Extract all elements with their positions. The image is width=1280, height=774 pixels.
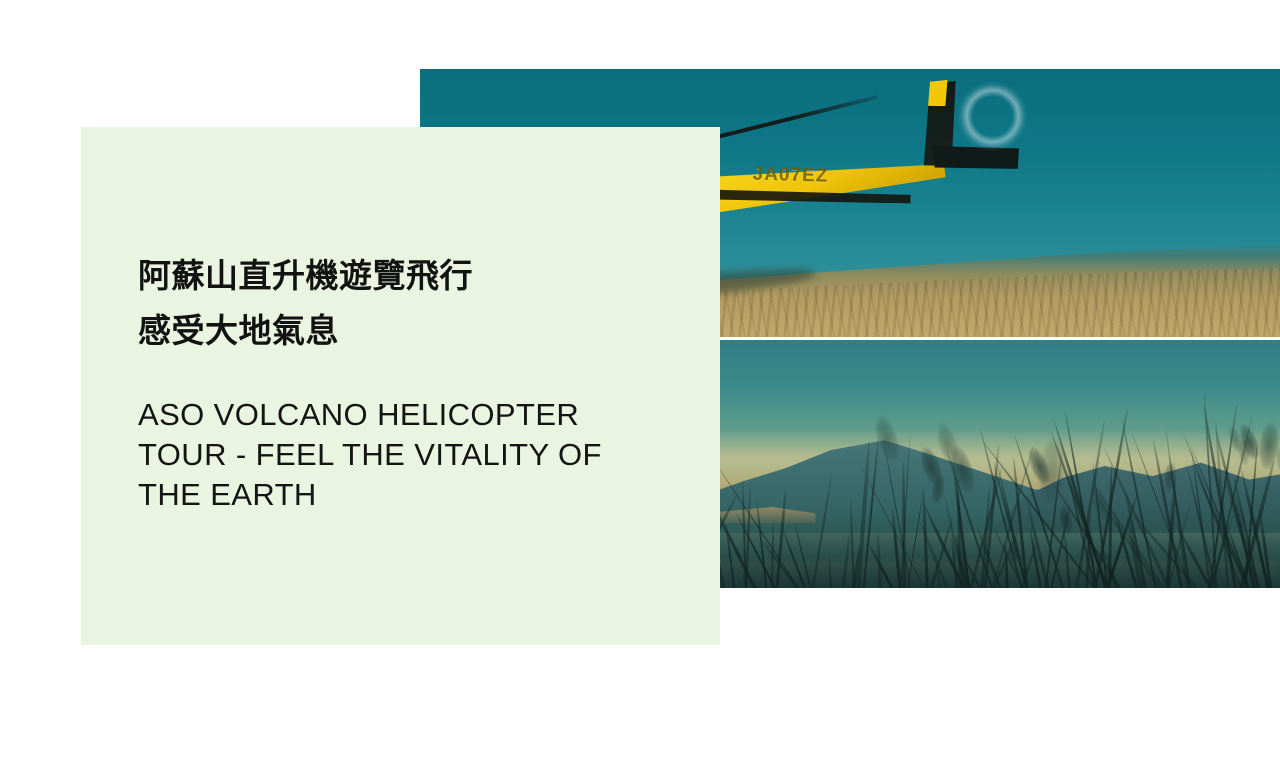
text-panel: 阿蘇山直升機遊覽飛行 感受大地氣息 ASO VOLCANO HELICOPTER… [81, 127, 720, 645]
helicopter-registration-text: JA07EZ [752, 164, 828, 188]
slide-canvas: JA07EZ [0, 0, 1280, 774]
page-subtitle: ASO VOLCANO HELICOPTER TOUR - FEEL THE V… [138, 359, 628, 515]
tail-rotor-blur [954, 78, 1031, 155]
panel-text-block: 阿蘇山直升機遊覽飛行 感受大地氣息 ASO VOLCANO HELICOPTER… [138, 249, 658, 514]
page-title: 阿蘇山直升機遊覽飛行 感受大地氣息 [138, 249, 658, 359]
